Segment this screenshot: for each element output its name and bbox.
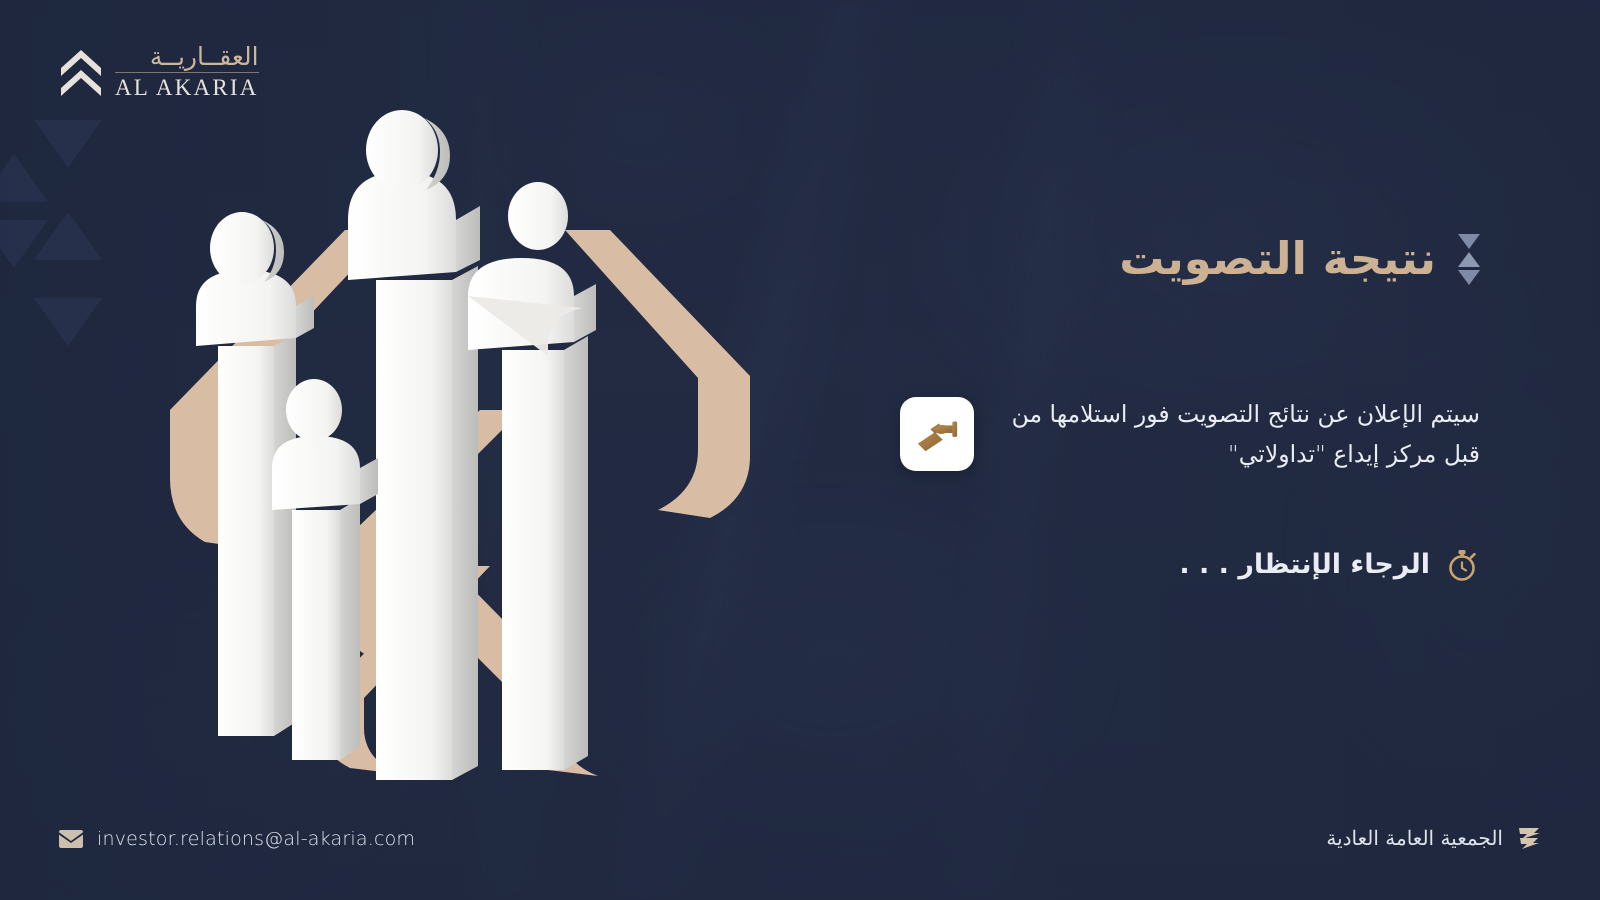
brand-name-arabic: العقــاريــة bbox=[115, 44, 259, 73]
brand-name-english: AL AKARIA bbox=[115, 76, 259, 99]
stopwatch-icon bbox=[1444, 547, 1480, 583]
three-d-people-illustration bbox=[150, 110, 770, 790]
envelope-icon bbox=[58, 829, 84, 849]
left-triangle-pattern bbox=[0, 120, 170, 380]
slide-root: العقــاريــة AL AKARIA bbox=[0, 0, 1600, 900]
figure-right bbox=[468, 182, 596, 770]
footer-assembly-text: الجمعية العامة العادية bbox=[1326, 826, 1503, 850]
page-title: نتيجة التصويت bbox=[1119, 232, 1436, 286]
double-chevron-logo-icon bbox=[58, 46, 104, 98]
content-column: نتيجة التصويت سيتم الإعلان عن نتائج التص… bbox=[900, 232, 1480, 583]
footer-email[interactable]: investor.relations@al-akaria.com bbox=[58, 828, 415, 850]
heading-row: نتيجة التصويت bbox=[900, 232, 1480, 286]
announcement-text: سيتم الإعلان عن نتائج التصويت فور استلام… bbox=[1004, 394, 1480, 475]
footer-email-text: investor.relations@al-akaria.com bbox=[97, 828, 415, 850]
triangle-column-ornament-icon bbox=[1458, 234, 1480, 285]
status-text: الرجاء الإنتظار . . . bbox=[1179, 549, 1430, 580]
footer-assembly: الجمعية العامة العادية bbox=[1326, 826, 1542, 850]
vote-hand-ballot-icon bbox=[900, 397, 974, 471]
stacked-documents-icon bbox=[1516, 826, 1542, 850]
status-row: الرجاء الإنتظار . . . bbox=[900, 547, 1480, 583]
brand-logo: العقــاريــة AL AKARIA bbox=[58, 44, 259, 99]
announcement-block: سيتم الإعلان عن نتائج التصويت فور استلام… bbox=[900, 394, 1480, 475]
